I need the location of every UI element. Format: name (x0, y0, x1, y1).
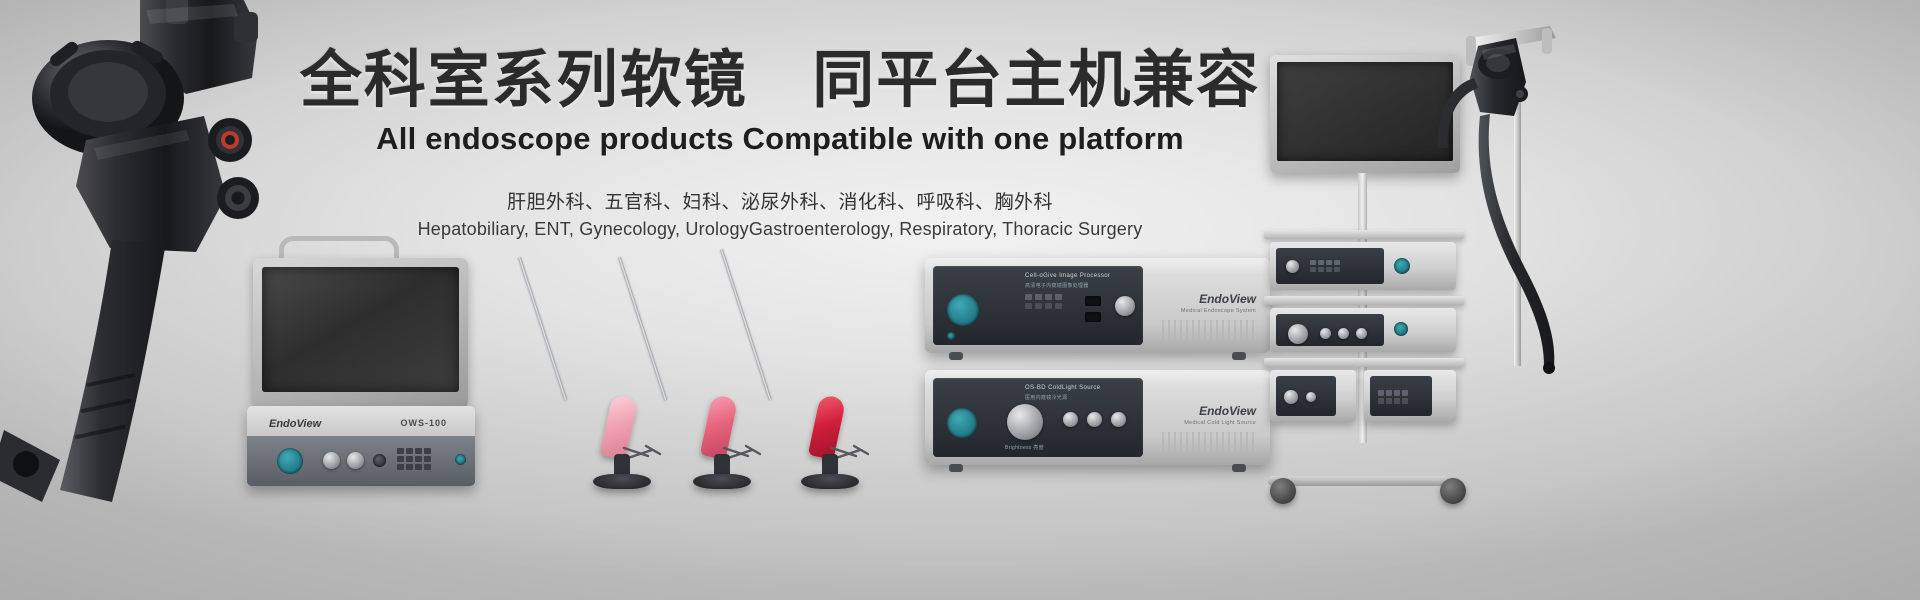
status-indicator (947, 332, 955, 340)
unit-foot-left (949, 352, 963, 360)
workstation-keypad[interactable] (397, 448, 431, 470)
unit-foot-right (1232, 464, 1246, 472)
video-out-port[interactable] (1085, 312, 1101, 322)
power-indicator (455, 454, 466, 465)
mode-button-1[interactable] (1063, 412, 1078, 427)
unit-front-panel (1370, 376, 1432, 416)
scope-connector-port[interactable] (277, 448, 303, 474)
workstation-base: EndoView OWS-100 (247, 406, 475, 486)
processor-panel-title: Cell-oGive Image Processor (1025, 273, 1110, 279)
light-source-panel-subtitle: 医用内窥镜冷光源 (1025, 394, 1067, 401)
light-source-panel-title: OS-BD ColdLight Source (1025, 385, 1101, 391)
panel-keypad[interactable] (1378, 390, 1408, 404)
workstation-control-strip (247, 436, 475, 486)
cold-light-source-unit: OS-BD ColdLight Source 医用内窥镜冷光源 Brightne… (925, 370, 1270, 465)
processor-brand-subtitle: Medical Endoscope System (1181, 308, 1256, 314)
light-guide-port[interactable] (947, 408, 977, 438)
light-source-brand: EndoView (1199, 404, 1256, 418)
cart-wheel-right (1440, 478, 1466, 504)
panel-knob[interactable] (1284, 390, 1298, 404)
aux-port[interactable] (373, 454, 386, 467)
panel-keypad[interactable] (1310, 260, 1340, 272)
panel-button[interactable] (1356, 328, 1367, 339)
panel-button[interactable] (1306, 392, 1316, 402)
cart-unit-bottom-left (1270, 370, 1356, 422)
light-source-front-panel: OS-BD ColdLight Source 医用内窥镜冷光源 Brightne… (933, 378, 1143, 457)
scope-shaft (518, 257, 567, 401)
usb-port[interactable] (1085, 296, 1101, 306)
unit-front-panel (1276, 314, 1384, 346)
connector-port[interactable] (1394, 258, 1410, 274)
headline-cn-part2: 同平台主机兼容 (812, 46, 1260, 115)
unit-foot-right (1232, 352, 1246, 360)
mode-button-2[interactable] (1087, 412, 1102, 427)
workstation-brand: EndoView (269, 418, 321, 430)
subtitle-en: All endoscope products Compatible with o… (0, 121, 1560, 157)
banner-text-block: 全科室系列软镜 同平台主机兼容 All endoscope products C… (0, 48, 1560, 240)
brightness-knob-label: Brightness 亮度 (1005, 444, 1044, 451)
workstation-model: OWS-100 (400, 418, 447, 428)
light-source-brand-subtitle: Medical Cold Light Source (1184, 420, 1256, 426)
endoscope-workstation-ows100: EndoView OWS-100 (235, 248, 500, 488)
scope-stand-base (801, 474, 859, 489)
page-title: 全科室系列软镜 同平台主机兼容 (0, 48, 1560, 113)
unit-front-panel (1276, 376, 1336, 416)
display-glass (262, 267, 459, 392)
ventilation-grille (1162, 432, 1258, 452)
ventilation-grille (1162, 320, 1258, 340)
cart-unit-upper (1270, 242, 1456, 290)
unit-front-panel (1276, 248, 1384, 284)
cart-wheel-left (1270, 478, 1296, 504)
cart-unit-lower (1270, 308, 1456, 352)
panel-button[interactable] (1338, 328, 1349, 339)
panel-button[interactable] (1320, 328, 1331, 339)
control-knob-2[interactable] (347, 452, 364, 469)
scope-connector-port[interactable] (947, 294, 979, 326)
headline-cn-part1: 全科室系列软镜 (300, 46, 748, 115)
connector-port[interactable] (1394, 322, 1408, 336)
scope-shaft (618, 257, 667, 401)
mode-button-3[interactable] (1111, 412, 1126, 427)
workstation-display (253, 258, 468, 408)
image-processor-unit: Cell-oGive Image Processor 高清电子内窥镜图像处理器 … (925, 258, 1270, 353)
processor-stack: Cell-oGive Image Processor 高清电子内窥镜图像处理器 … (925, 258, 1270, 473)
control-knob-1[interactable] (323, 452, 340, 469)
rigid-scope-crimson (710, 250, 870, 490)
panel-knob[interactable] (1286, 260, 1299, 273)
panel-knob[interactable] (1288, 324, 1308, 344)
processor-keypad[interactable] (1025, 294, 1062, 309)
specialties-list-cn: 肝胆外科、五官科、妇科、泌尿外科、消化科、呼吸科、胸外科 (0, 187, 1560, 214)
cart-base-frame (1268, 476, 1448, 486)
processor-main-knob[interactable] (1115, 296, 1135, 316)
unit-foot-left (949, 464, 963, 472)
processor-brand: EndoView (1199, 292, 1256, 306)
specialties-list-en: Hepatobiliary, ENT, Gynecology, UrologyG… (0, 219, 1560, 240)
processor-panel-subtitle: 高清电子内窥镜图像处理器 (1025, 282, 1089, 289)
scope-shaft (720, 249, 772, 400)
brightness-knob[interactable] (1007, 404, 1043, 440)
processor-front-panel: Cell-oGive Image Processor 高清电子内窥镜图像处理器 (933, 266, 1143, 345)
marketing-banner: 全科室系列软镜 同平台主机兼容 All endoscope products C… (0, 0, 1920, 600)
